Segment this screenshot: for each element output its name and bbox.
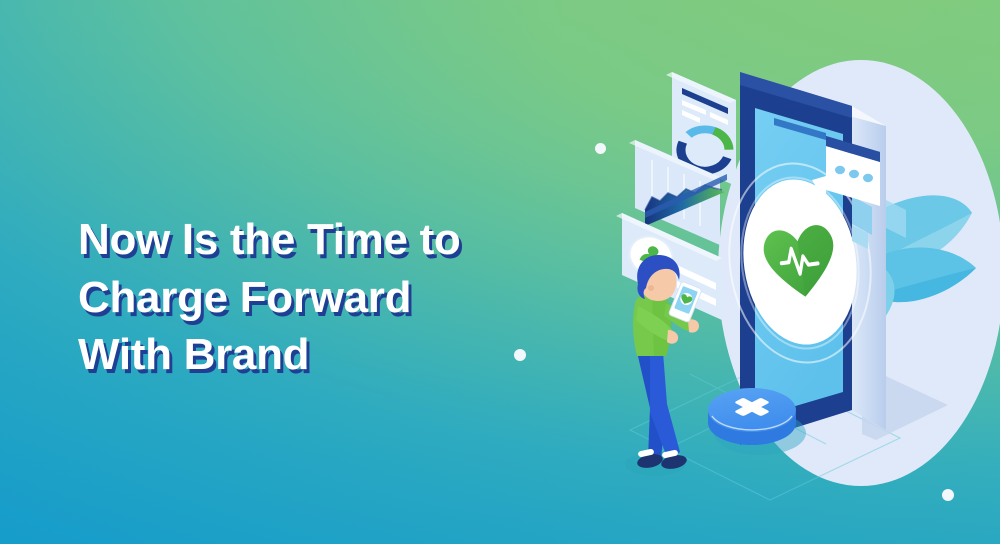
decorative-dot (514, 349, 526, 361)
person-hand (667, 330, 678, 344)
page-title: Now Is the Time to Charge Forward With B… (78, 211, 461, 383)
decorative-dot (942, 489, 954, 501)
close-x-badge[interactable] (708, 388, 796, 445)
person-with-phone (625, 255, 702, 476)
person-hand (688, 319, 699, 332)
hero-banner: Now Is the Time to Charge Forward With B… (0, 0, 1000, 544)
decorative-dot (595, 143, 606, 154)
